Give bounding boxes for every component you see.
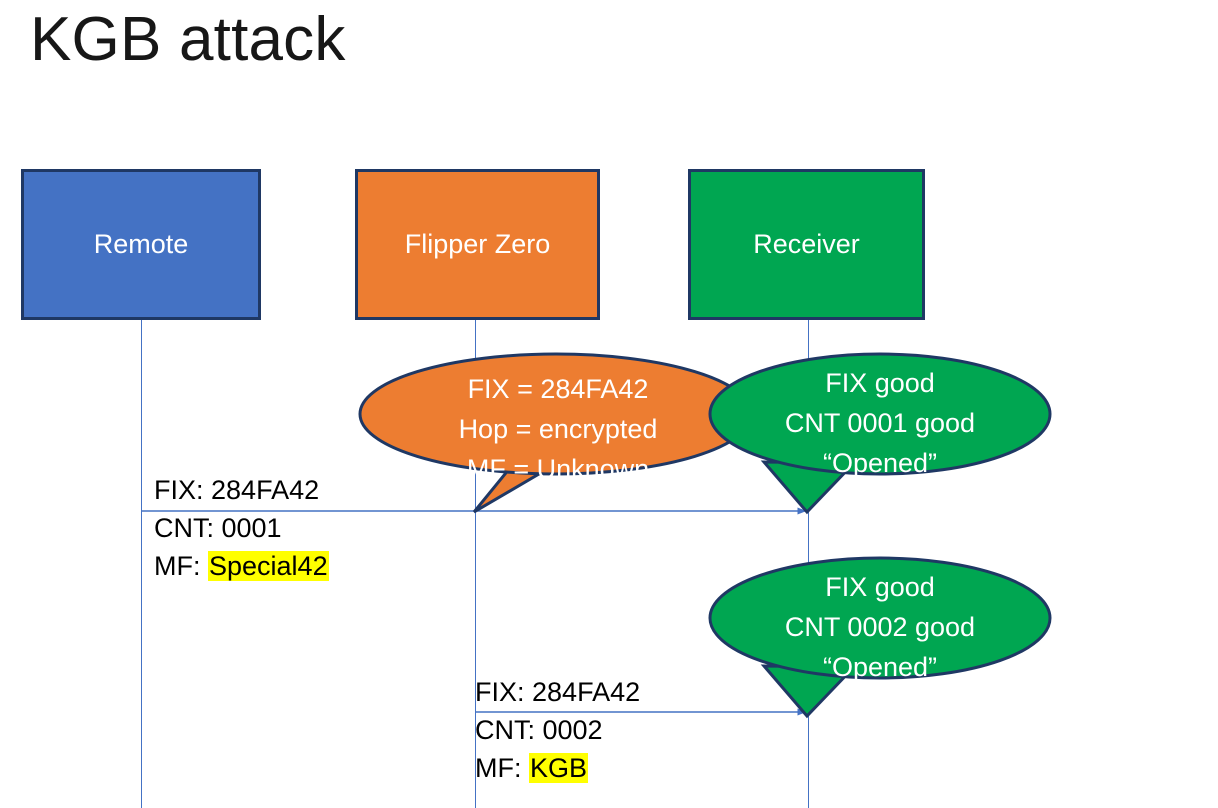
message-line-cnt: CNT: 0002 <box>475 711 640 749</box>
message-line-cnt: CNT: 0001 <box>154 509 329 547</box>
message-line-fix-prefix: FIX: <box>154 475 211 505</box>
message-line-cnt-value: 0001 <box>222 513 282 543</box>
callout-bubble-icon <box>710 354 1050 474</box>
message-line-cnt-value: 0002 <box>543 715 603 745</box>
actor-label-flipper: Flipper Zero <box>405 230 551 260</box>
page-title: KGB attack <box>30 6 346 74</box>
callout-receiver-response-2: FIX good CNT 0002 good “Opened” <box>706 554 1054 720</box>
actor-label-receiver: Receiver <box>753 230 860 260</box>
message-line-fix: FIX: 284FA42 <box>154 471 329 509</box>
actor-box-flipper[interactable]: Flipper Zero <box>355 169 600 320</box>
message-line-cnt-prefix: CNT: <box>475 715 543 745</box>
message-line-mf-value-highlighted: KGB <box>529 753 588 783</box>
message-line-mf-prefix: MF: <box>154 551 208 581</box>
callout-flipper-shape <box>358 352 758 517</box>
message-label-2: FIX: 284FA42 CNT: 0002 MF: KGB <box>475 673 640 787</box>
callout-bubble-icon <box>360 354 752 474</box>
actor-box-remote[interactable]: Remote <box>21 169 261 320</box>
message-label-1: FIX: 284FA42 CNT: 0001 MF: Special42 <box>154 471 329 585</box>
callout-receiver-2-shape <box>706 554 1054 720</box>
message-line-fix-value: 284FA42 <box>532 677 640 707</box>
lifeline-remote <box>141 320 142 808</box>
message-line-fix-prefix: FIX: <box>475 677 532 707</box>
callout-receiver-response-1: FIX good CNT 0001 good “Opened” <box>706 350 1054 516</box>
message-line-fix-value: 284FA42 <box>211 475 319 505</box>
message-line-mf: MF: KGB <box>475 749 640 787</box>
message-line-mf-value-highlighted: Special42 <box>208 551 329 581</box>
actor-label-remote: Remote <box>94 230 189 260</box>
slide-canvas: KGB attack Remote Flipper Zero Receiver … <box>0 0 1218 808</box>
actor-box-receiver[interactable]: Receiver <box>688 169 925 320</box>
message-line-fix: FIX: 284FA42 <box>475 673 640 711</box>
message-line-mf-prefix: MF: <box>475 753 529 783</box>
message-line-mf: MF: Special42 <box>154 547 329 585</box>
message-line-cnt-prefix: CNT: <box>154 513 222 543</box>
callout-flipper-observation: FIX = 284FA42 Hop = encrypted MF = Unkno… <box>358 352 758 517</box>
callout-bubble-icon <box>710 558 1050 678</box>
callout-receiver-1-shape <box>706 350 1054 516</box>
